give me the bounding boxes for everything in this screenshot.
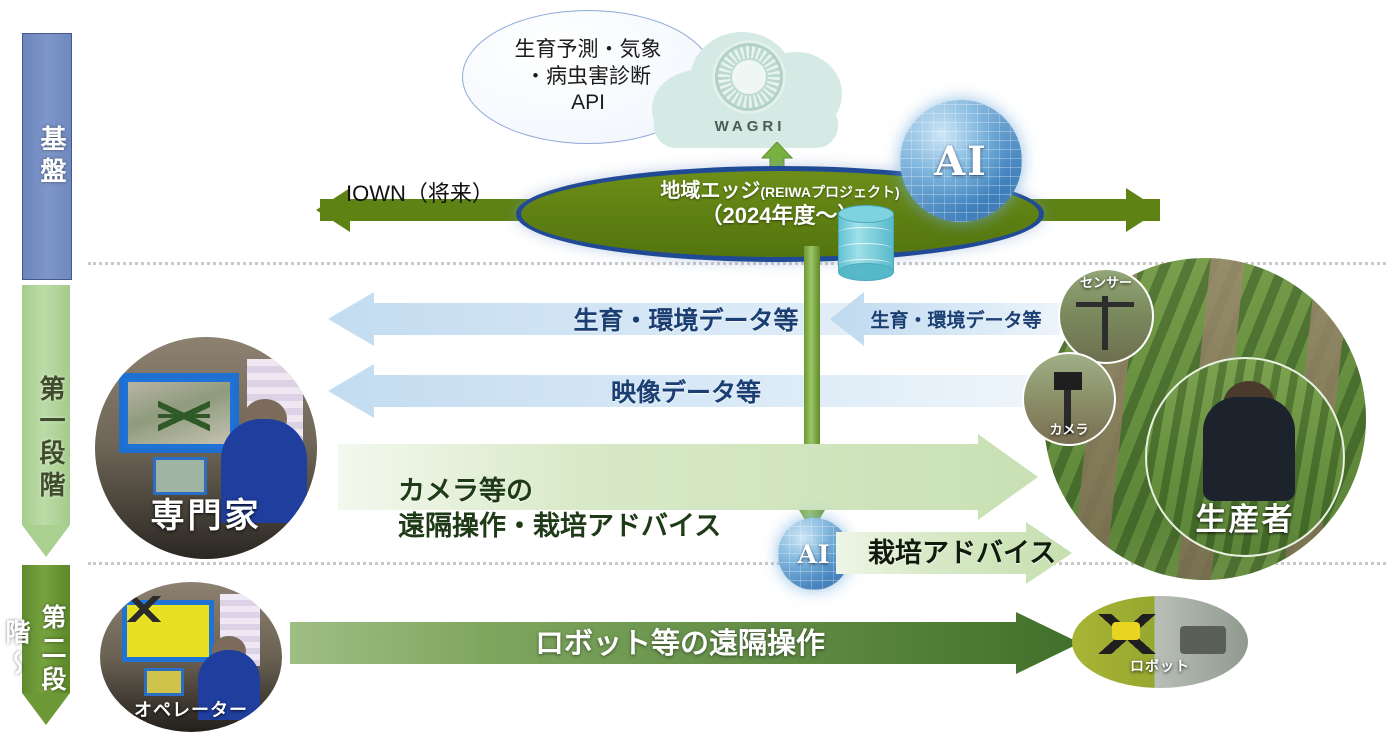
mandala-icon: [712, 40, 786, 114]
ai-label-top: AI: [934, 138, 988, 185]
phase-label-stage-two: 第二段階〜: [22, 565, 70, 725]
camera-photo: カメラ: [1022, 352, 1116, 446]
phase-one-arrow-tip: [22, 525, 70, 557]
cultivation-advice-label: 栽培アドバイス: [868, 531, 1056, 570]
monitor-graphic: [119, 373, 239, 453]
drone-graphic: [122, 596, 166, 622]
person-body-graphic: [1203, 397, 1295, 501]
phase-bar-stage-one: 第一段階: [22, 285, 70, 557]
edge-title-main: 地域エッジ: [660, 180, 760, 202]
robot-photo: ロボット: [1072, 596, 1248, 688]
robot-remote-operation-label: ロボット等の遠隔操作: [290, 620, 1070, 662]
producer-caption: 生産者: [1147, 494, 1343, 539]
operator-photo: オペレーター: [100, 582, 282, 732]
db-bottom: [838, 263, 894, 281]
database-cylinder-icon: [838, 205, 892, 279]
wagri-label: WAGRI: [698, 118, 802, 135]
data-flow-label-growth-right: 生育・環境データ等: [830, 306, 1060, 333]
data-flow-label-video: 映像データ等: [328, 373, 1104, 409]
iown-label: IOWN（将来）: [346, 176, 494, 208]
phase-bar-stage-two: 第二段階〜: [22, 565, 70, 725]
phase-label-stage-one: 第一段階: [22, 339, 70, 503]
data-flow-arrow-growth-right: 生育・環境データ等: [830, 292, 1060, 346]
ai-sphere-top: AI: [900, 100, 1022, 222]
sensor-caption: センサー: [1060, 272, 1152, 291]
ai-label-mid: AI: [797, 540, 830, 569]
robot-caption: ロボット: [1072, 656, 1248, 676]
sensor-arm-graphic: [1076, 302, 1134, 307]
api-text-line3: API: [515, 90, 662, 117]
camera-head-graphic: [1054, 372, 1082, 390]
laptop-graphic: [144, 668, 184, 696]
db-ring: [838, 227, 892, 238]
phase-bar-foundation: 基盤: [22, 33, 72, 280]
operator-caption: オペレーター: [100, 696, 282, 722]
camera-remote-operation-label: カメラ等の 遠隔操作・栽培アドバイス: [398, 474, 778, 544]
camera-label-line2: 遠隔操作・栽培アドバイス: [398, 509, 778, 544]
sensor-photo: センサー: [1058, 268, 1154, 364]
db-top: [838, 205, 894, 223]
data-flow-arrow-video: 映像データ等: [328, 364, 1044, 418]
db-ring: [838, 243, 892, 254]
camera-label-line1: カメラ等の: [398, 474, 778, 509]
plant-graphic: [158, 388, 210, 444]
drone-body-graphic: [1112, 622, 1140, 640]
diagram-canvas: 基盤 第一段階 第二段階〜 生育予測・気象 ・病虫害診断 API WAGRI: [0, 0, 1388, 734]
phase-label-foundation: 基盤: [23, 125, 71, 189]
edge-title-project: (REIWAプロジェクト): [760, 184, 899, 200]
wagri-cloud: WAGRI: [646, 18, 846, 148]
expert-photo: 専門家: [95, 337, 317, 559]
camera-caption: カメラ: [1024, 419, 1114, 438]
producer-photo: 生産者: [1145, 357, 1345, 557]
api-text-line2: ・病虫害診断: [515, 64, 662, 91]
tractor-graphic: [1180, 626, 1226, 654]
api-text-line1: 生育予測・気象: [515, 37, 662, 64]
expert-caption: 専門家: [95, 488, 317, 537]
